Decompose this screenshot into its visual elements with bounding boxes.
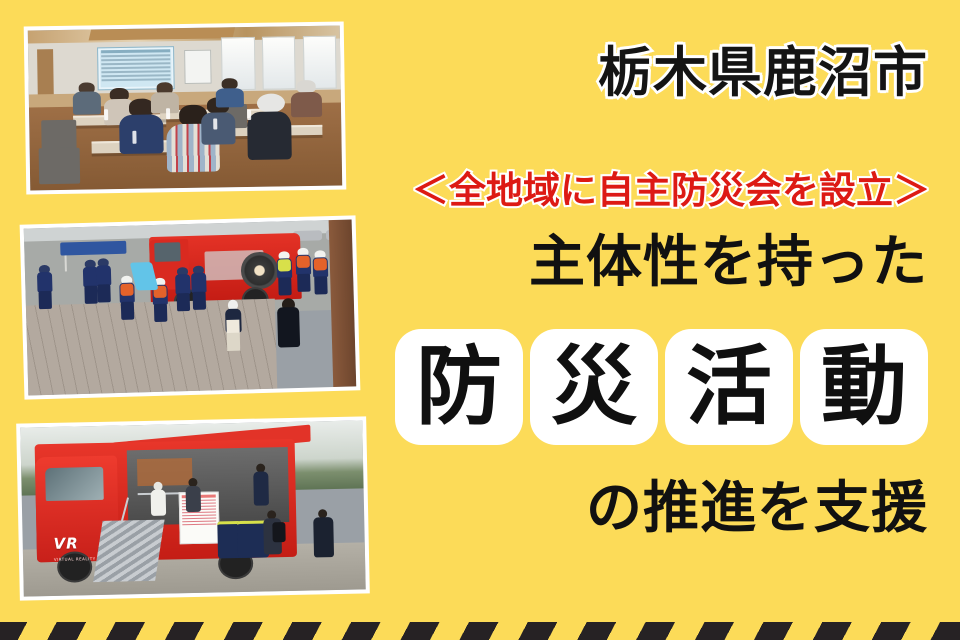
kanji-box-4: 動 [800,329,928,445]
kanji-box-2: 災 [530,329,658,445]
boxed-keyword-row: 防 災 活 動 [395,329,928,445]
water-bottle [166,108,170,119]
photo-seminar [24,21,347,194]
photo-vr-truck: VR VIRTUAL REALITY [16,416,370,600]
fire-hose-reel [241,252,278,290]
headline-line-1: 主体性を持った [529,235,928,291]
attendee-body [216,88,244,108]
vr-logo-subtext: VIRTUAL REALITY [54,556,96,562]
cab-window [45,466,104,501]
photo-vr-truck-image: VR VIRTUAL REALITY [20,420,365,596]
subheading-establishment: ＜全地域に自主防災会を設立＞ [412,172,930,209]
attendee-body [247,111,291,160]
photo-seminar-image [28,26,342,191]
kanji-box-1: 防 [395,329,523,445]
attendee-body [120,115,164,154]
window [262,36,296,90]
photo-drill [20,215,361,399]
bay-interior-display [137,458,192,486]
photo-drill-image [24,219,357,395]
water-bottle [104,109,108,120]
whiteboard [184,50,211,84]
page-title-city: 栃木県鹿沼市 [598,46,928,100]
chair [39,148,80,184]
hazard-stripe-footer [0,622,960,640]
vr-logo-text: VR [53,535,79,554]
fire-truck-window [154,243,181,262]
water-bottle [247,110,251,120]
building-wall [329,219,357,387]
access-stairs [93,519,164,581]
door [37,49,53,97]
ceiling-beam [89,27,235,40]
attendee-body [291,91,323,117]
poster-canvas: VR VIRTUAL REALITY [0,0,960,640]
water-bottle [132,131,136,144]
headline-line-2: の推進を支援 [586,481,928,537]
event-tent [60,241,126,256]
attendee-body [72,92,100,115]
attendee-body [201,112,236,145]
water-bottle [213,119,217,130]
kanji-box-3: 活 [665,329,793,445]
attendee-body [150,92,178,113]
